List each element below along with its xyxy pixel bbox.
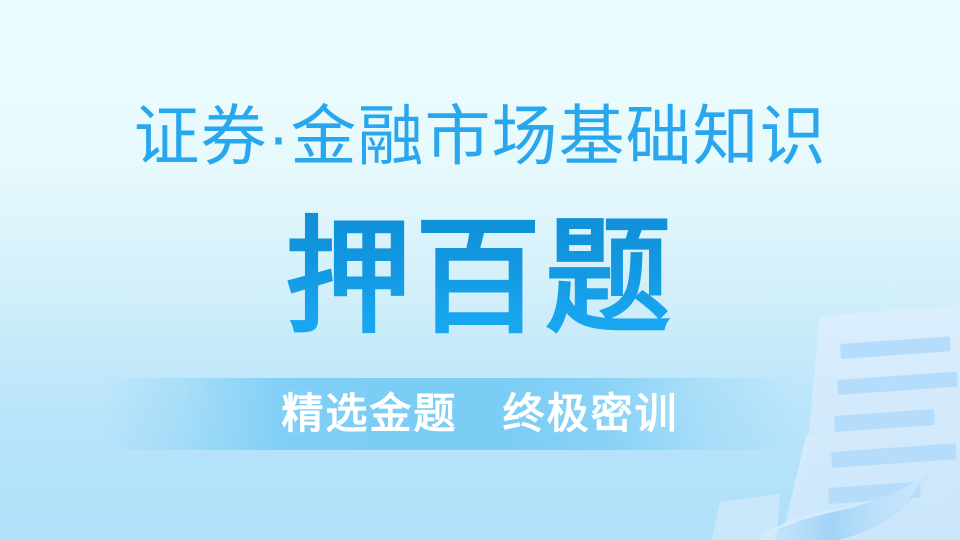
subtitle-right: 终极密训 xyxy=(503,390,679,437)
promo-poster: 证券·金融市场基础知识 押百题 精选金题 终极密训 xyxy=(0,0,960,540)
page-title: 证券·金融市场基础知识 xyxy=(0,96,960,176)
subtitle-left: 精选金题 xyxy=(281,390,457,437)
subtitle: 精选金题 终极密训 xyxy=(0,386,960,442)
headline: 押百题 xyxy=(0,208,960,348)
